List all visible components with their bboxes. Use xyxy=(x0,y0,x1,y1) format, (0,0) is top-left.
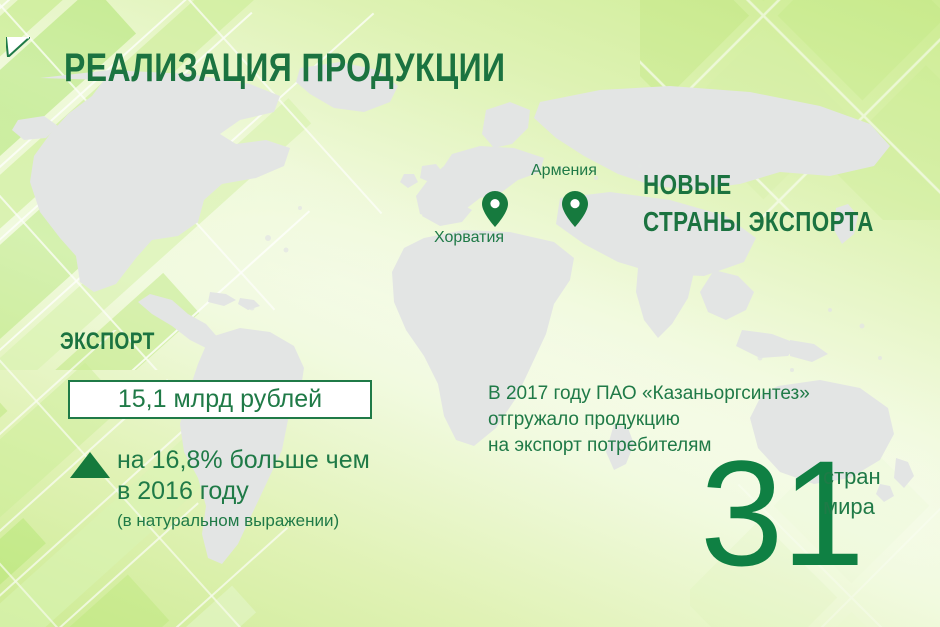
growth-line1: на 16,8% больше чем xyxy=(117,445,370,476)
countries-unit-label: стран мира xyxy=(823,462,881,522)
triangle-up-icon xyxy=(70,452,110,478)
export-value-bubble: 15,1 млрд рублей xyxy=(68,380,372,419)
pin-label-armenia: Армения xyxy=(531,162,597,180)
pin-label-croatia: Хорватия xyxy=(434,229,504,247)
export-growth-note: (в натуральном выражении) xyxy=(117,510,339,531)
new-export-countries-heading: НОВЫЕ СТРАНЫ ЭКСПОРТА xyxy=(643,166,932,240)
infographic-canvas: РЕАЛИЗАЦИЯ ПРОДУКЦИИ Хорватия Армения НО… xyxy=(0,0,940,627)
new-countries-line2: СТРАНЫ ЭКСПОРТА xyxy=(643,203,874,240)
export-value-text: 15,1 млрд рублей xyxy=(70,382,370,417)
growth-line2: в 2016 году xyxy=(117,476,370,507)
export-label: ЭКСПОРТ xyxy=(60,328,155,356)
map-pin-icon-armenia[interactable] xyxy=(562,191,588,227)
unit-line1: стран xyxy=(823,462,881,492)
bubble-tail xyxy=(6,37,30,57)
map-pin-icon-croatia[interactable] xyxy=(482,191,508,227)
page-title: РЕАЛИЗАЦИЯ ПРОДУКЦИИ xyxy=(64,46,505,90)
new-countries-line1: НОВЫЕ xyxy=(643,166,874,203)
description-line1: В 2017 году ПАО «Казаньоргсинтез» xyxy=(488,381,810,407)
export-growth-text: на 16,8% больше чем в 2016 году xyxy=(117,445,370,507)
unit-line2: мира xyxy=(823,492,881,522)
